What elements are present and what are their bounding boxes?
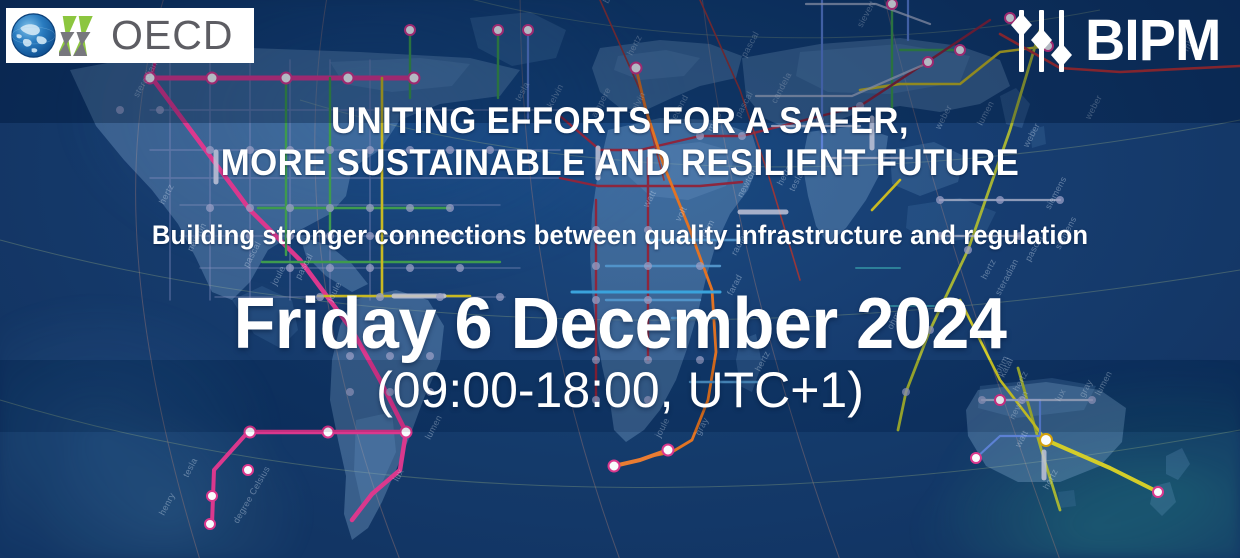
event-date: Friday 6 December 2024 [31,288,1209,360]
event-banner: steradian hertz newton pascal joule tesl… [0,0,1240,558]
headline-block: UNITING EFFORTS FOR A SAFER, MORE SUSTAI… [0,0,1240,558]
page-subtitle: Building stronger connections between qu… [31,220,1209,251]
event-time: (09:00-18:00, UTC+1) [0,365,1240,415]
page-title: UNITING EFFORTS FOR A SAFER, MORE SUSTAI… [37,100,1203,184]
